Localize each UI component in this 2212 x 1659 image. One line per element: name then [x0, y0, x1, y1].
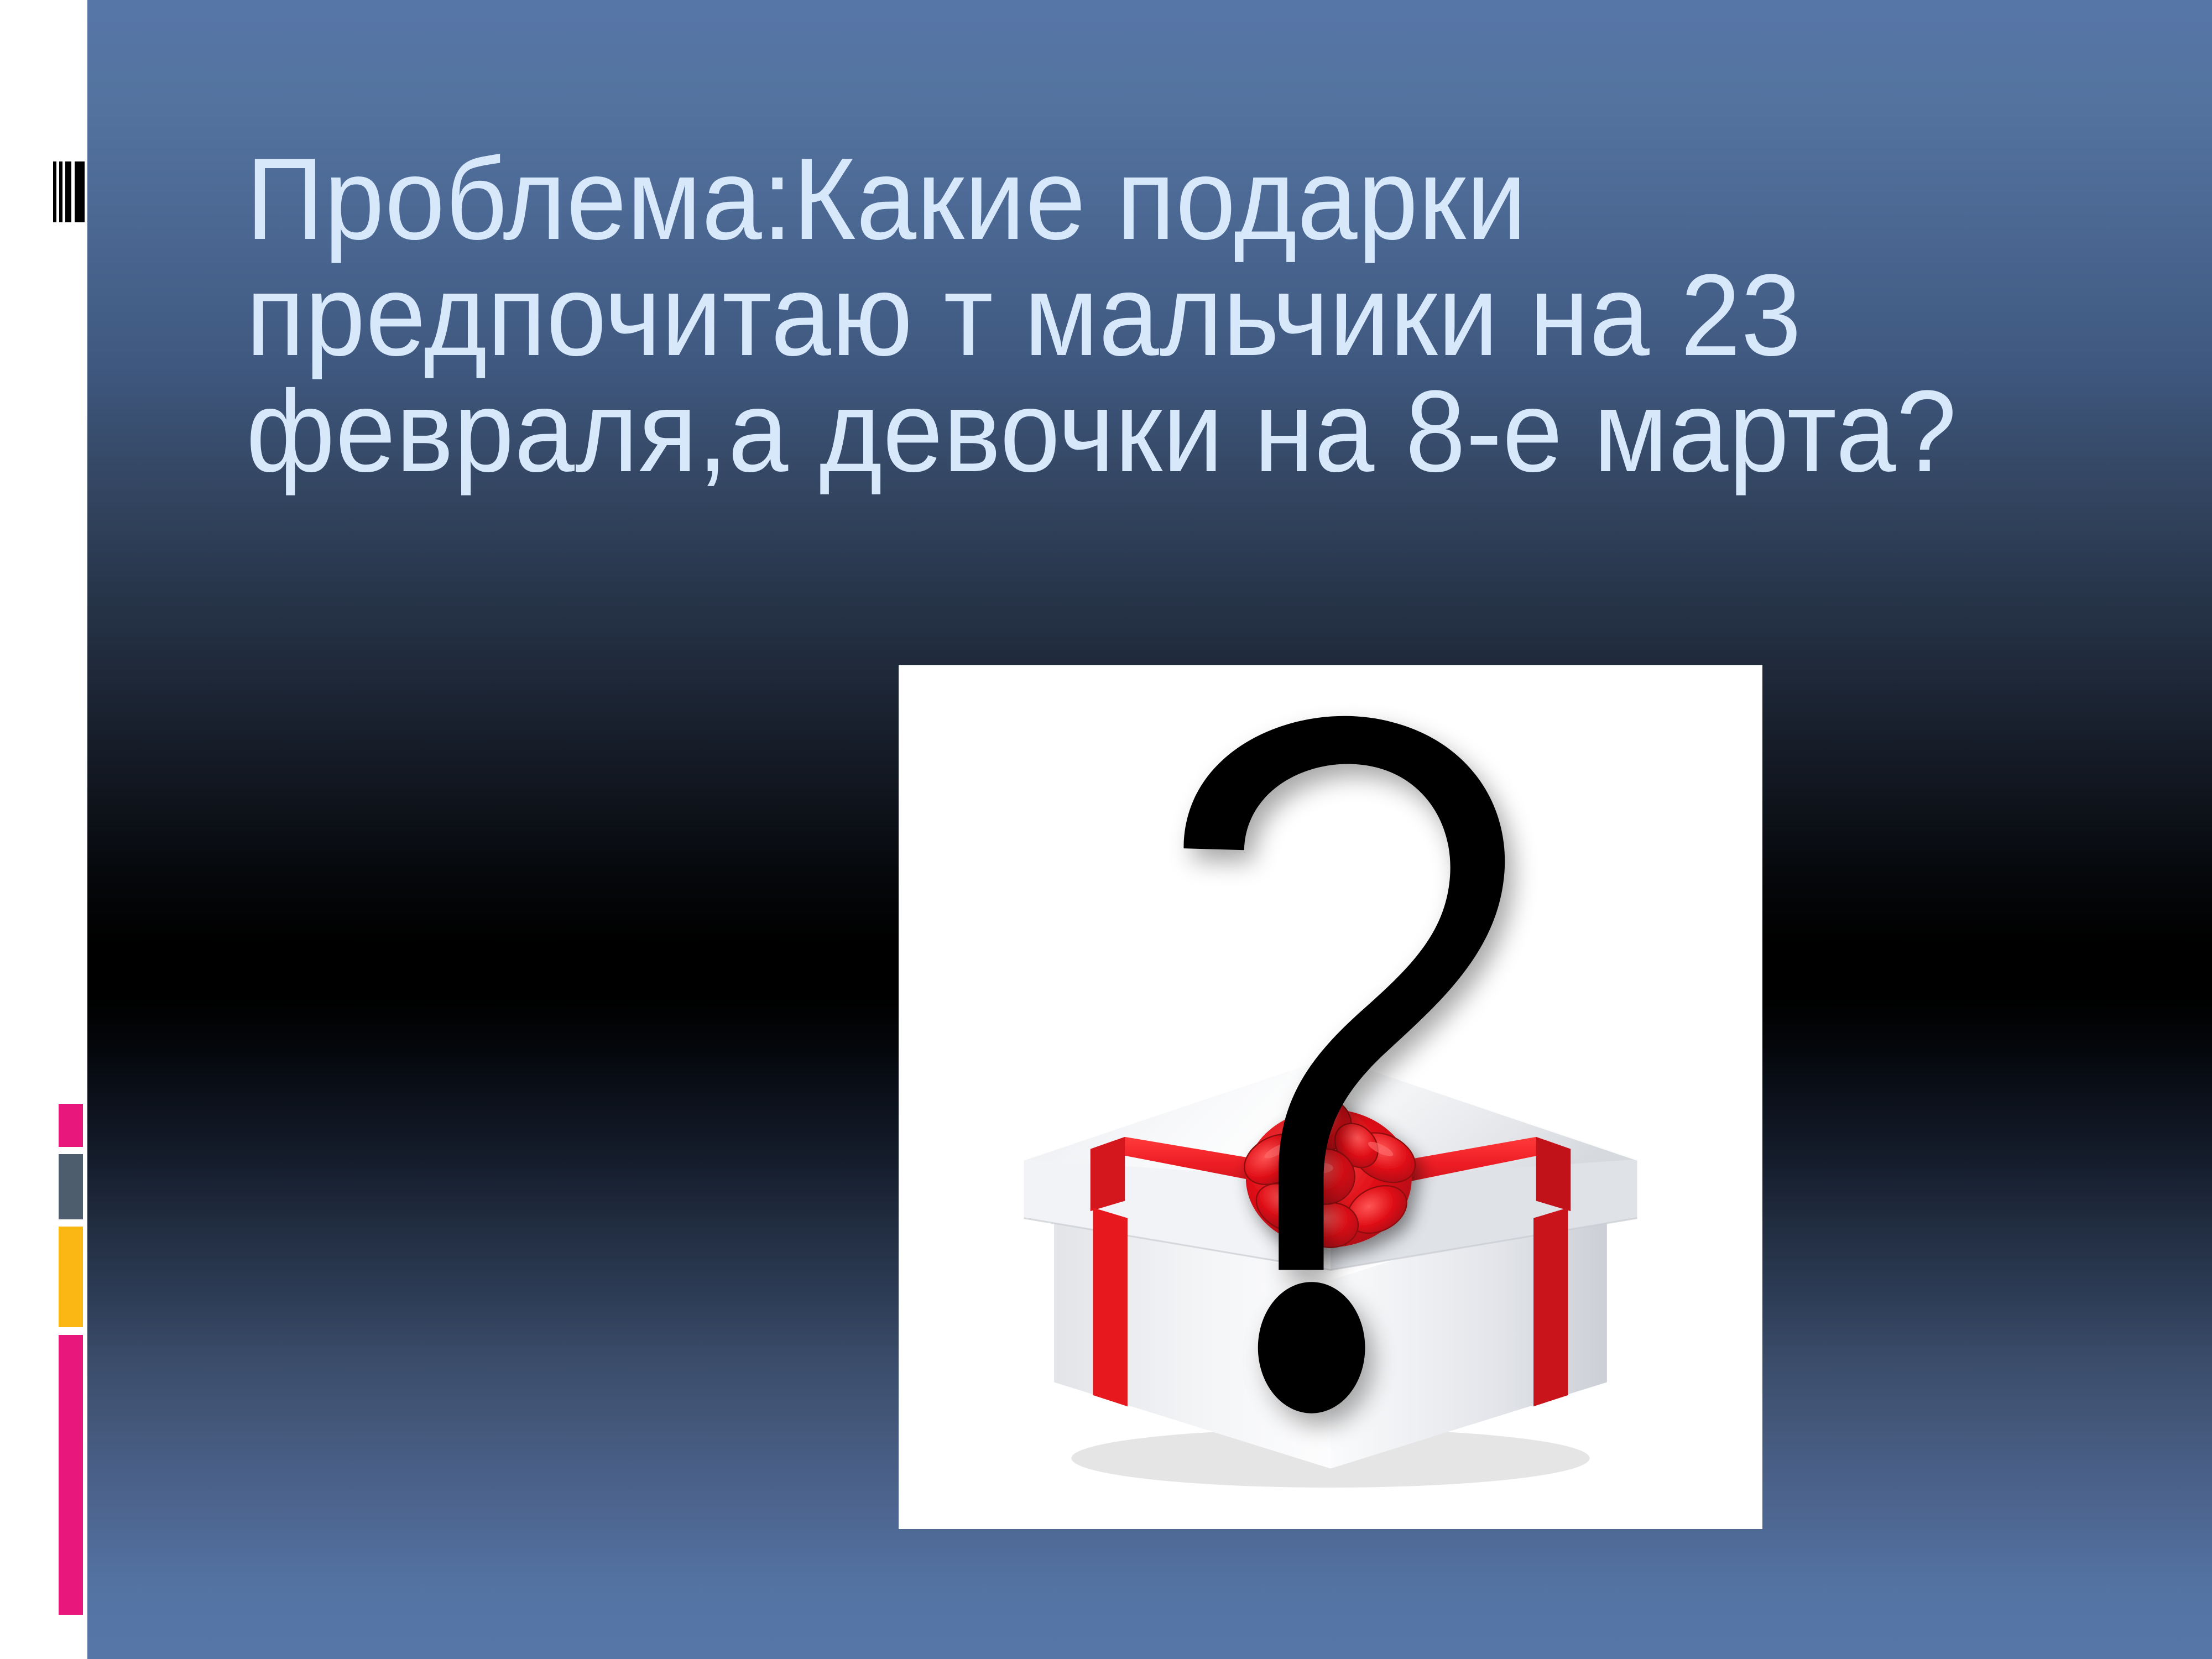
accent-stripe-amber: [59, 1227, 83, 1327]
gift-box-svg: [899, 665, 1762, 1529]
accent-stripe-pink-long: [59, 1335, 83, 1615]
gift-box-illustration: [899, 665, 1762, 1529]
gift-box-question-image: [899, 665, 1762, 1529]
accent-stripe-pink-top: [59, 1104, 83, 1147]
slide-canvas: Проблема:Какие подарки предпочитаю т мал…: [0, 0, 2212, 1659]
accent-stripe-slate: [59, 1154, 83, 1219]
slide-title: Проблема:Какие подарки предпочитаю т мал…: [246, 141, 1959, 489]
